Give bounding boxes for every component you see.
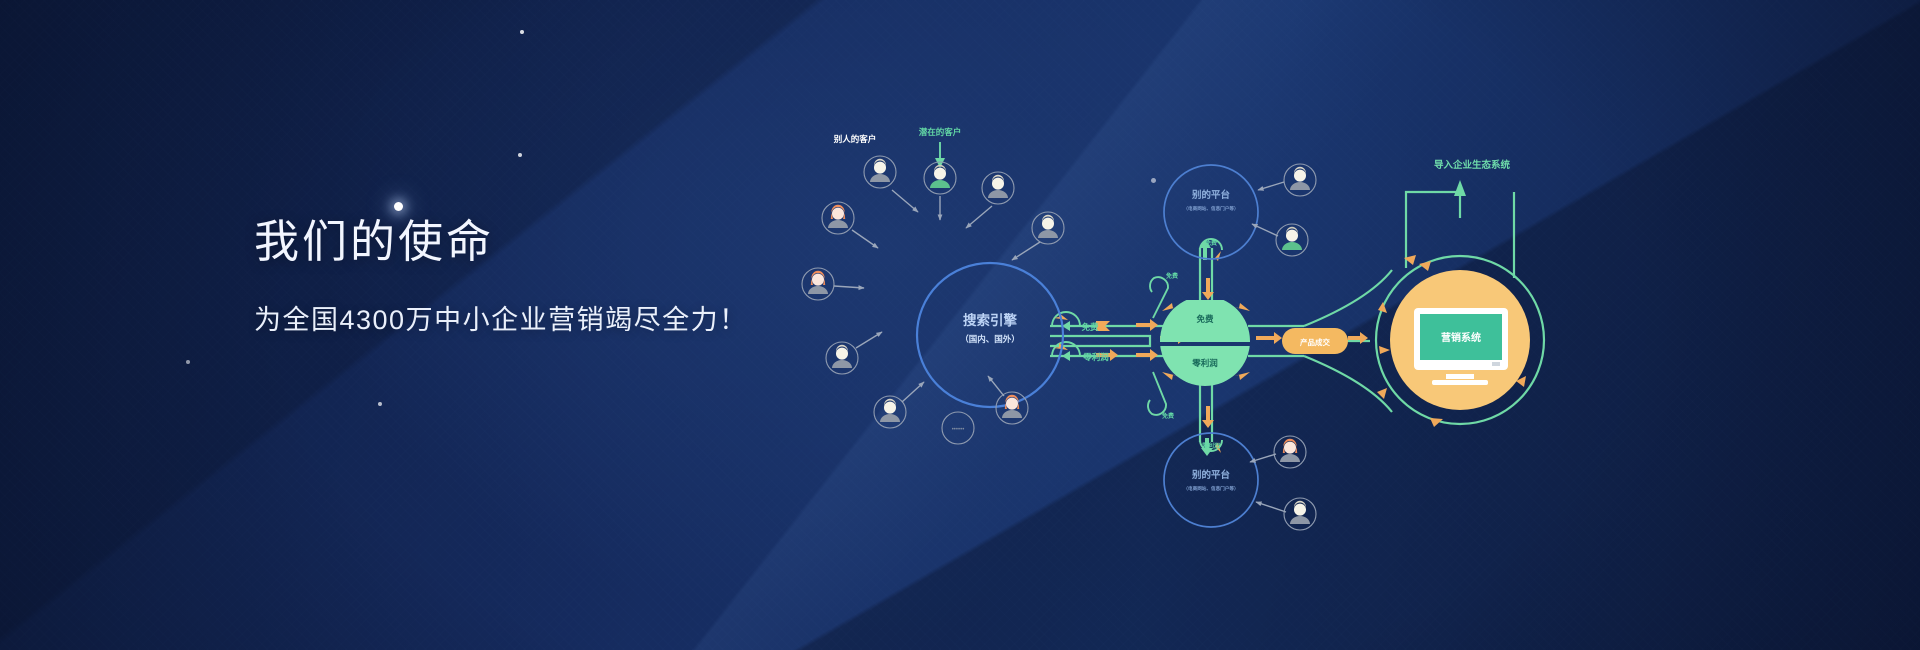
sparkle-dot (520, 30, 524, 34)
hub-top-label: 免费 (1196, 314, 1214, 324)
platform-top-sublabel: （电商网站、信息门户等） (1183, 205, 1238, 212)
sparkle-dot (378, 402, 382, 406)
hero-copy: 我们的使命 为全国4300万中小企业营销竭尽全力！ (254, 215, 748, 337)
hero-banner: 我们的使命 为全国4300万中小企业营销竭尽全力！ (0, 0, 1920, 650)
deal-label: 产品成交 (1300, 337, 1330, 347)
free-se-label: 免费 (1081, 322, 1099, 332)
hub-bottom-label: 零利润 (1191, 358, 1218, 368)
platform-top-free-label: 免费 (1205, 239, 1217, 247)
free-bottom-branch-label: 免费 (1162, 412, 1174, 420)
avatar (1274, 436, 1306, 468)
pipe-free-branch-bottom (1148, 372, 1166, 415)
ecosystem-label: 导入企业生态系统 (1434, 159, 1511, 171)
node-deal: 产品成交 (1282, 328, 1348, 354)
sparkle-dot (518, 153, 522, 157)
avatar (1032, 212, 1064, 244)
avatar (1284, 164, 1316, 196)
avatar (982, 172, 1014, 204)
platform-top-label: 别的平台 (1191, 189, 1231, 201)
avatar-placeholder: •••••• (942, 412, 974, 444)
platform-bottom-sublabel: （电商网站、信息门户等） (1183, 485, 1238, 492)
avatar (996, 392, 1028, 424)
pipe-se-return (1050, 336, 1150, 346)
ecosystem-diagram: 搜索引擎 （国内、国外） 别的平台 （电商网站、信息门户等） 免费 零利润 别的… (900, 150, 1540, 510)
pipe-free-branch-top (1150, 277, 1168, 318)
avatar (1276, 224, 1308, 256)
zero-profit-se-label: 零利润 (1082, 352, 1109, 362)
sparkle-dot-glow (394, 202, 403, 211)
potential-customers-label: 潜在的客户 (919, 127, 962, 137)
marketing-system-label: 营销系统 (1441, 331, 1481, 344)
page-subtitle: 为全国4300万中小企业营销竭尽全力！ (254, 298, 748, 337)
platform-bottom-zero-label: 零利润 (1201, 442, 1220, 450)
eco-arrow-icon (1454, 180, 1466, 196)
search-engine-sublabel: （国内、国外） (960, 334, 1020, 344)
free-top-branch-label: 免费 (1166, 272, 1178, 280)
page-title: 我们的使命 (254, 215, 748, 268)
node-hub: 免费 零利润 (1160, 296, 1250, 386)
platform-bottom-label: 别的平台 (1191, 469, 1231, 481)
sparkle-dot (186, 360, 190, 364)
avatar-placeholder-label: •••••• (952, 427, 965, 433)
search-engine-label: 搜索引擎 (963, 312, 1017, 328)
others-customers-label: 别人的客户 (833, 134, 877, 144)
node-marketing-system: 营销系统 (1390, 270, 1530, 410)
